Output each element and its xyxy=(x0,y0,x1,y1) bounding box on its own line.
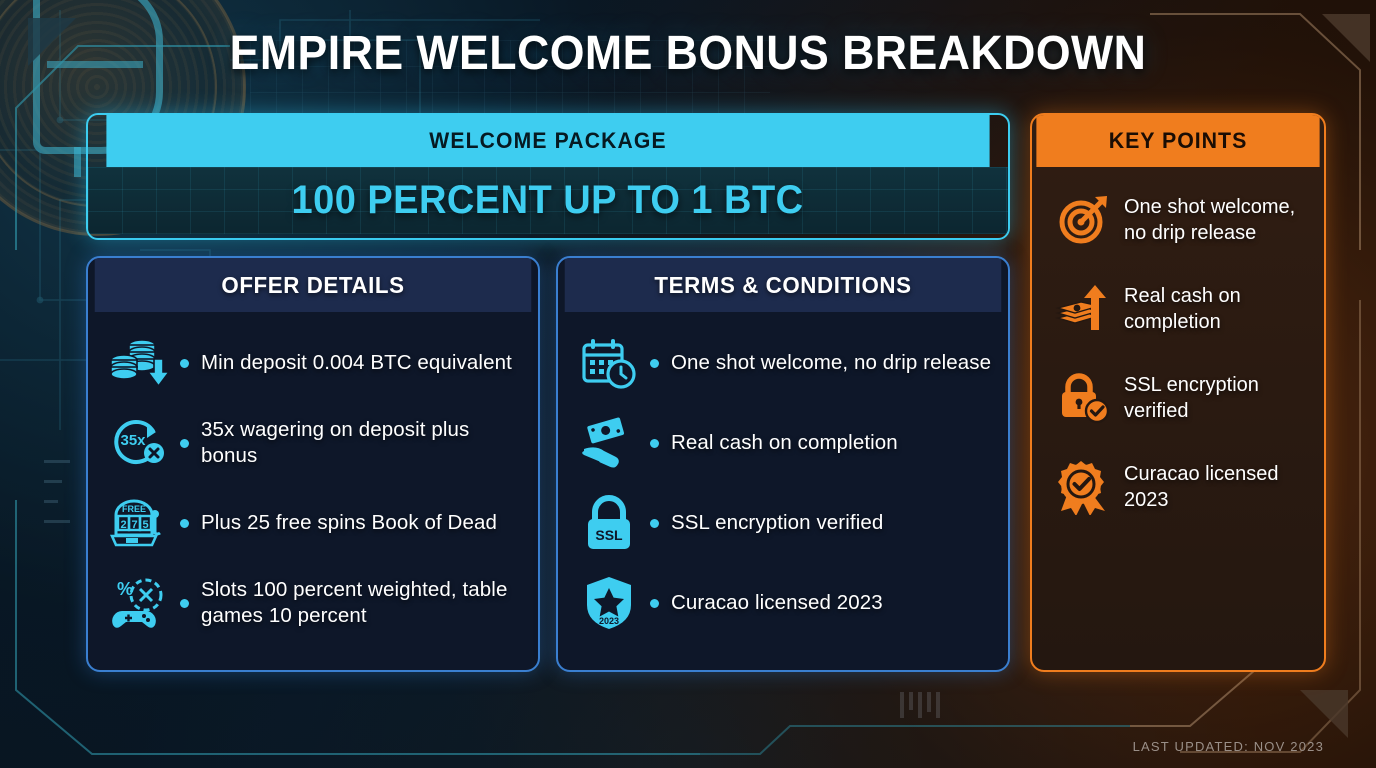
key-points-heading: KEY POINTS xyxy=(1036,115,1319,167)
list-item-label: Slots 100 percent weighted, table games … xyxy=(201,577,524,629)
terms-conditions-panel: TERMS & CONDITIONS xyxy=(556,256,1010,672)
list-item-label: Real cash on completion xyxy=(671,430,898,456)
list-item: Real cash on completion xyxy=(1042,278,1310,340)
offer-details-heading: OFFER DETAILS xyxy=(95,258,532,312)
offer-details-panel: OFFER DETAILS Mi xyxy=(86,256,540,672)
svg-text:2023: 2023 xyxy=(599,616,619,626)
bullet-marker xyxy=(650,359,659,368)
welcome-package-card: WELCOME PACKAGE 100 PERCENT UP TO 1 BTC xyxy=(86,113,1010,240)
list-item: One shot welcome, no drip release xyxy=(1042,189,1310,251)
key-points-list: One shot welcome, no drip release Real c xyxy=(1032,167,1324,555)
list-item-label: Min deposit 0.004 BTC equivalent xyxy=(201,350,512,376)
license-shield-2023-icon: 2023 xyxy=(572,570,646,636)
bullet-marker xyxy=(180,519,189,528)
infographic-canvas: EMPIRE WELCOME BONUS BREAKDOWN WELCOME P… xyxy=(0,0,1376,768)
bullet-marker xyxy=(180,599,189,608)
list-item: % Slots 100 percent weighted, table game… xyxy=(102,570,524,636)
list-item: 2023 Curacao licensed 2023 xyxy=(572,570,994,636)
slot-machine-free-spins-icon: FREE 2 7 5 xyxy=(102,490,176,556)
list-item-label: Real cash on completion xyxy=(1124,283,1310,336)
cash-in-hand-icon xyxy=(572,410,646,476)
list-item: FREE 2 7 5 Plus 25 free spins Book o xyxy=(102,490,524,556)
welcome-package-value: 100 PERCENT UP TO 1 BTC xyxy=(292,178,804,223)
bullet-marker xyxy=(650,519,659,528)
svg-text:SSL: SSL xyxy=(595,527,623,543)
terms-conditions-heading: TERMS & CONDITIONS xyxy=(565,258,1002,312)
welcome-package-value-area: 100 PERCENT UP TO 1 BTC xyxy=(88,167,1008,234)
list-item-label: Curacao licensed 2023 xyxy=(671,590,883,616)
bullet-marker xyxy=(650,439,659,448)
list-item-label: SSL encryption verified xyxy=(671,510,883,536)
wagering-35x-icon: 35x xyxy=(102,410,176,476)
key-points-panel: KEY POINTS One shot welcome, no drip rel… xyxy=(1030,113,1326,672)
target-dart-icon xyxy=(1042,189,1124,251)
list-item: SSL SSL encryption verified xyxy=(572,490,994,556)
svg-text:7: 7 xyxy=(131,519,137,531)
svg-text:FREE: FREE xyxy=(122,504,146,514)
list-item: 35x 35x wagering on deposit plus bonus xyxy=(102,410,524,476)
cash-growth-icon xyxy=(1042,278,1124,340)
list-item: One shot welcome, no drip release xyxy=(572,330,994,396)
award-badge-icon xyxy=(1042,456,1124,518)
terms-conditions-list: One shot welcome, no drip release xyxy=(558,312,1008,660)
lock-verified-icon xyxy=(1042,367,1124,429)
bullet-marker xyxy=(180,359,189,368)
list-item: SSL encryption verified xyxy=(1042,367,1310,429)
offer-details-list: Min deposit 0.004 BTC equivalent 35x 35x… xyxy=(88,312,538,660)
coin-stack-deposit-icon xyxy=(102,330,176,396)
list-item: Min deposit 0.004 BTC equivalent xyxy=(102,330,524,396)
list-item-label: One shot welcome, no drip release xyxy=(671,350,991,376)
list-item-label: SSL encryption verified xyxy=(1124,372,1310,425)
list-item: Real cash on completion xyxy=(572,410,994,476)
list-item-label: One shot welcome, no drip release xyxy=(1124,194,1310,247)
bullet-marker xyxy=(650,599,659,608)
calendar-clock-icon xyxy=(572,330,646,396)
ssl-lock-icon: SSL xyxy=(572,490,646,556)
game-weighting-icon: % xyxy=(102,570,176,636)
welcome-package-heading: WELCOME PACKAGE xyxy=(106,115,989,167)
svg-text:5: 5 xyxy=(142,519,148,531)
tick-marks-bottom-decoration xyxy=(900,692,978,718)
svg-text:35x: 35x xyxy=(120,432,146,449)
page-title: EMPIRE WELCOME BONUS BREAKDOWN xyxy=(48,26,1328,81)
list-item-label: Plus 25 free spins Book of Dead xyxy=(201,510,497,536)
last-updated-label: LAST UPDATED: NOV 2023 xyxy=(1133,739,1324,754)
list-item: Curacao licensed 2023 xyxy=(1042,456,1310,518)
list-item-label: 35x wagering on deposit plus bonus xyxy=(201,417,524,469)
svg-text:2: 2 xyxy=(120,519,126,531)
tick-marks-left-decoration xyxy=(44,460,70,580)
bullet-marker xyxy=(180,439,189,448)
list-item-label: Curacao licensed 2023 xyxy=(1124,461,1310,514)
